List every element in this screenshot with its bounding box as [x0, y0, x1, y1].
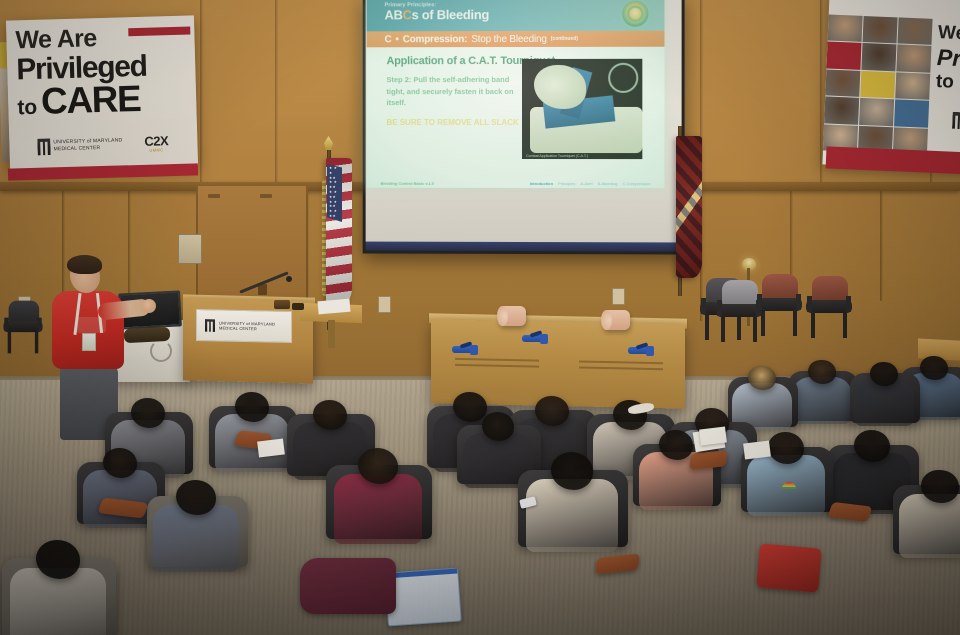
spare-chair-wood-1: [756, 274, 802, 336]
tourniquet-1: [452, 343, 478, 357]
audience-member: [153, 480, 238, 581]
presenter-id-badge: [82, 333, 96, 351]
headshot-3: [898, 17, 933, 45]
audience-member: [854, 362, 913, 432]
audience-member-torso: [153, 505, 238, 572]
banner-logo-row: UNIVERSITY of MARYLAND MEDICAL CENTER C2…: [37, 134, 168, 156]
audience-member-head: [235, 392, 269, 422]
wall-control-plate: [178, 234, 202, 264]
section-letter: C: [385, 34, 392, 45]
slide-footer-version: Bleeding Control Basic v.1.0: [381, 181, 434, 186]
slide-nav-introduction: Introduction: [530, 181, 553, 186]
headshot-11: [859, 98, 894, 126]
banner-line-3-big: CARE: [41, 83, 141, 117]
audience-member-torso: [854, 379, 913, 425]
headshot-12: [894, 100, 929, 128]
slide-nav-b-bleeding: B-Bleeding: [598, 181, 618, 186]
audience-member-head: [920, 356, 947, 380]
maroon-coat: [300, 558, 396, 614]
slide-nav-principles: Principles: [558, 181, 575, 186]
audience-member-head: [103, 448, 137, 478]
audience-member-torso: [334, 474, 423, 544]
audience-member-head: [854, 430, 890, 462]
rainbow-patch-icon: [782, 482, 796, 489]
banner-right-line-3: to P: [936, 72, 960, 92]
audience-member-head: [748, 366, 775, 390]
projected-slide: Primary Principles: ABCs of Bleeding C •…: [367, 0, 665, 188]
limb-trainer-1: [498, 306, 526, 326]
ummc-logo-icon-lectern: [205, 319, 215, 332]
ummc-logo-icon: [37, 138, 50, 155]
handout-paper: [743, 440, 771, 459]
banner-line-1: We Are: [15, 24, 188, 54]
microphone-icon: [286, 276, 292, 282]
banner-right-privileged: We Pri to P M: [822, 0, 960, 171]
audience-member-head: [358, 448, 399, 484]
headshot-5: [861, 43, 896, 71]
audience-member: [899, 470, 960, 567]
slide-section-bar: C • Compression: Stop the Bleeding (cont…: [367, 31, 665, 48]
tourniquet-2: [522, 332, 548, 346]
banner-right-logo: M: [952, 112, 960, 130]
slide-body: Application of a C.A.T. Tourniquet (2 of…: [367, 47, 665, 188]
handout-paper: [257, 438, 285, 457]
audience-member-torso: [792, 377, 851, 423]
photo-watermark-seal-icon: [608, 63, 638, 93]
section-continued: (continued): [551, 36, 578, 42]
papers-on-side-table: [317, 299, 350, 315]
wall-outlet-center: [378, 296, 391, 313]
audience-member: [10, 540, 106, 635]
audience-member-torso: [899, 494, 960, 558]
audience-member-head: [313, 400, 347, 430]
lectern-ummc-sign: UNIVERSITY of MARYLAND MEDICAL CENTER: [196, 309, 292, 343]
section-bullet-icon: •: [395, 34, 398, 45]
headshot-4: [826, 42, 861, 70]
lecture-hall-photo: We Are Privileged to CARE UNIVERSITY of …: [0, 0, 960, 635]
audience-member-head: [768, 432, 804, 464]
tourniquet-3: [628, 344, 654, 358]
headshot-7: [825, 69, 860, 97]
audience-member-head: [870, 362, 897, 386]
audience-member: [526, 452, 619, 562]
limb-trainer-2: [602, 310, 630, 330]
spare-chair-left: [3, 301, 42, 354]
audience-member-torso: [526, 479, 619, 552]
section-title: Stop the Bleeding: [471, 33, 546, 44]
audience-member-head: [482, 412, 514, 441]
headshot-6: [896, 45, 931, 73]
audience-member-head: [535, 396, 569, 426]
audience-member-head: [176, 480, 215, 515]
slide-demo-photo: Combat Application Tourniquet (C.A.T.): [522, 59, 642, 159]
united-states-flag: ★ ★ ★ ★★ ★ ★ ★★ ★ ★ ★★ ★ ★ ★★ ★ ★ ★★ ★ ★…: [326, 158, 352, 306]
banner-right-line-1: We: [938, 23, 960, 43]
audience-member-head: [36, 540, 80, 579]
headshot-8: [860, 71, 895, 99]
red-backpack: [756, 543, 822, 592]
audience-member-head: [551, 452, 594, 490]
slide-photo-caption: Combat Application Tourniquet (C.A.T.): [526, 154, 588, 158]
headshot-1: [828, 14, 863, 42]
headshot-grid: [823, 14, 933, 154]
slide-warning-text: BE SURE TO REMOVE ALL SLACK: [386, 117, 522, 129]
audience-member-head: [659, 430, 693, 460]
audience-member: [792, 360, 851, 430]
banner-right-line-2: Pri: [936, 46, 960, 70]
stop-the-bleed-seal-icon: [622, 1, 648, 27]
audience-member: [334, 448, 423, 554]
headshot-2: [863, 16, 898, 44]
banner-we-are-privileged-to-care: We Are Privileged to CARE UNIVERSITY of …: [6, 15, 198, 170]
ummc-name-line-2: MEDICAL CENTER: [53, 144, 122, 153]
slide-nav-a-alert: A-Alert: [580, 181, 592, 186]
audience-member-head: [808, 360, 835, 384]
slide-footer-nav: IntroductionPrinciplesA-AlertB-BleedingC…: [530, 181, 651, 186]
headshot-9: [895, 72, 930, 100]
slide-step-text: Step 2: Pull the self-adhering band tigh…: [386, 74, 522, 109]
audience-member-head: [131, 398, 165, 428]
ummc-logo-icon-right: [952, 112, 960, 130]
slide-nav-c-compression: C-Compression: [622, 181, 650, 186]
headshot-10: [824, 97, 859, 125]
c2x-logo: C2X: [144, 134, 168, 148]
wall-outlet-right: [612, 288, 625, 305]
slide-header: Primary Principles: ABCs of Bleeding: [367, 0, 665, 31]
projection-screen: Primary Principles: ABCs of Bleeding C •…: [363, 0, 685, 255]
spare-chair-wood-2: [806, 276, 852, 338]
audience-member-head: [921, 470, 958, 503]
section-label: Compression:: [403, 34, 468, 45]
audience-member: [83, 448, 157, 536]
handout-paper: [699, 426, 727, 445]
banner-line-3-small: to: [17, 97, 37, 117]
slide-footer: Bleeding Control Basic v.1.0 Introductio…: [367, 181, 665, 186]
